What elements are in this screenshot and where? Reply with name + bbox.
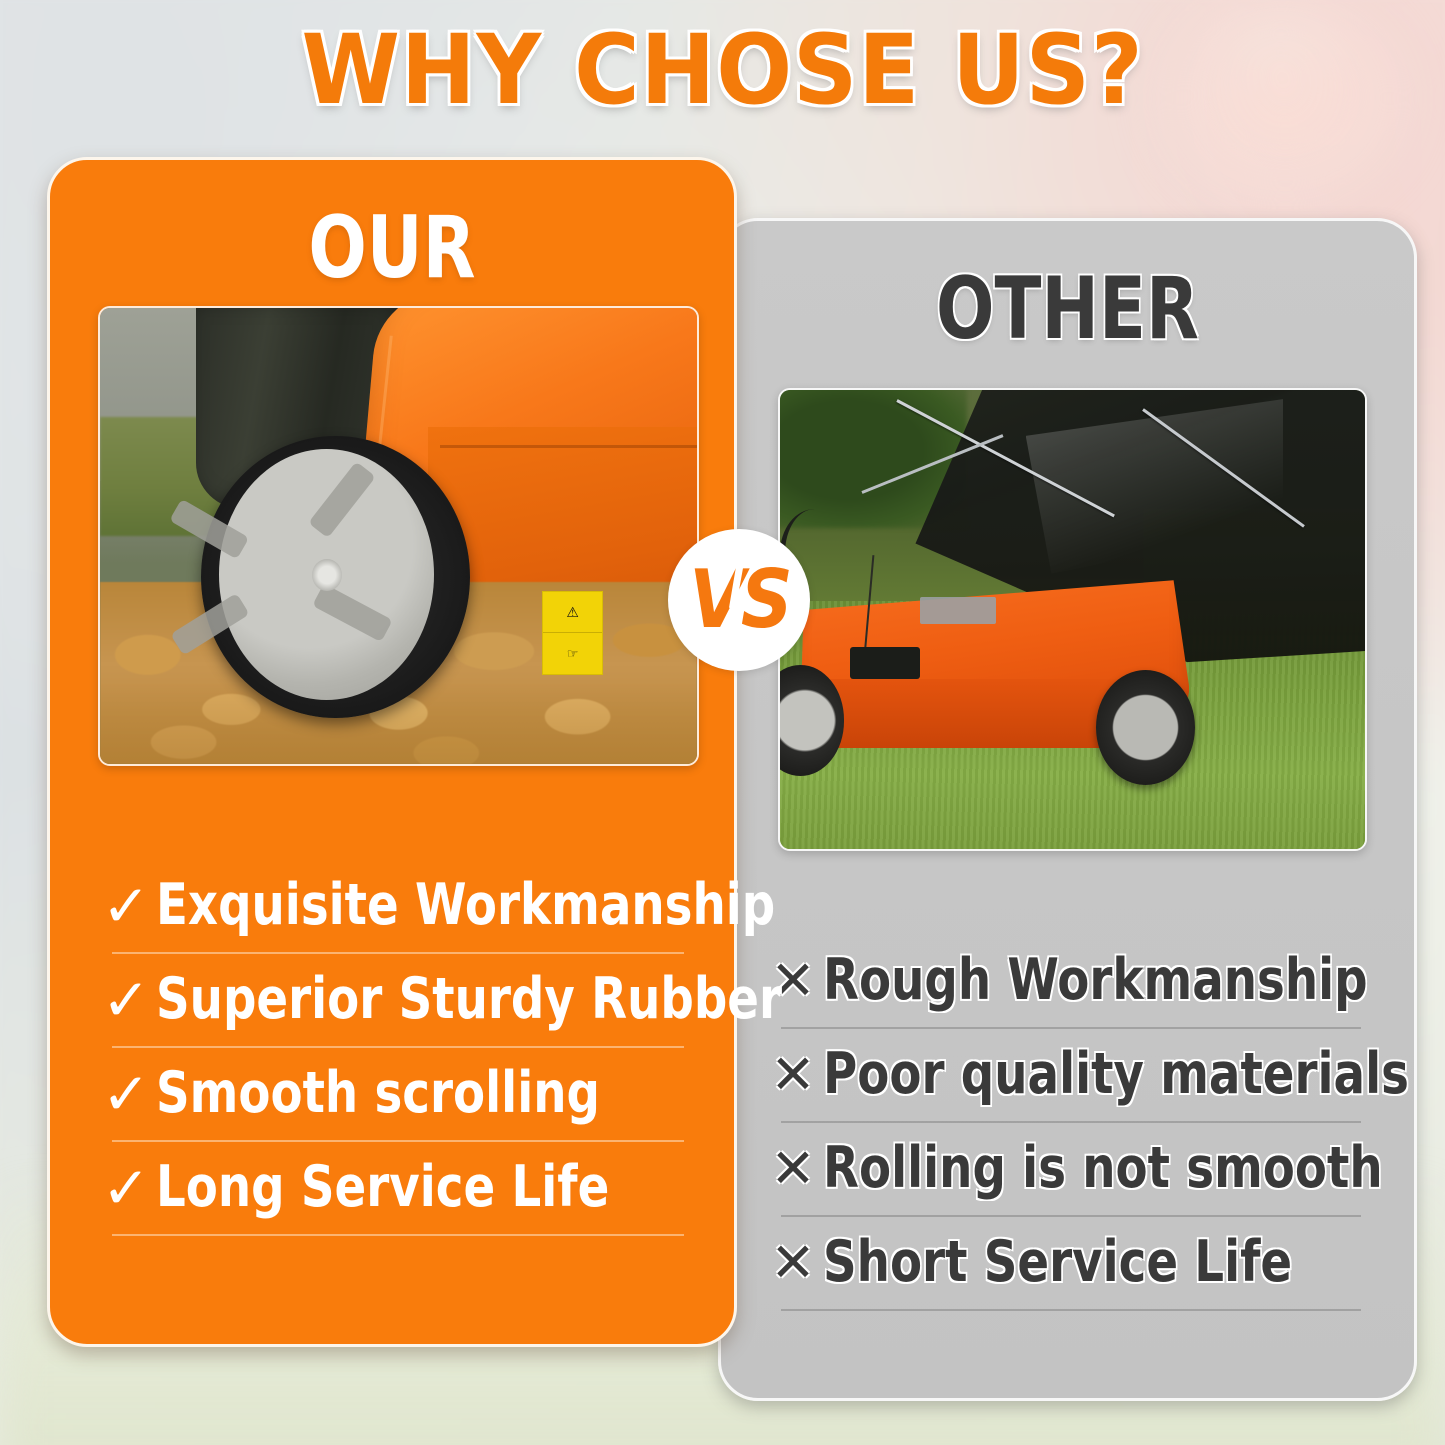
list-item-label: Rolling is not smooth bbox=[823, 1139, 1383, 1198]
list-item: ✓ Exquisite Workmanship bbox=[96, 860, 696, 952]
list-item: ✕ Rough Workmanship bbox=[763, 935, 1377, 1027]
check-icon: ✓ bbox=[96, 1065, 156, 1123]
our-card-heading: OUR bbox=[118, 205, 665, 291]
other-feature-list: ✕ Rough Workmanship ✕ Poor quality mater… bbox=[763, 935, 1377, 1311]
list-item: ✓ Long Service Life bbox=[96, 1142, 696, 1234]
other-product-photo bbox=[778, 388, 1367, 851]
list-item: ✓ Superior Sturdy Rubber bbox=[96, 954, 696, 1046]
check-icon: ✓ bbox=[96, 1159, 156, 1217]
cross-icon: ✕ bbox=[763, 1236, 823, 1290]
check-icon: ✓ bbox=[96, 971, 156, 1029]
other-comparison-card: OTHER ✕ Rough Workmanship ✕ Poor quality… bbox=[718, 218, 1417, 1401]
photo-name-plate bbox=[920, 597, 996, 625]
list-item: ✓ Smooth scrolling bbox=[96, 1048, 696, 1140]
photo-hub-cap bbox=[312, 559, 342, 591]
list-divider bbox=[112, 1234, 684, 1236]
other-card-heading: OTHER bbox=[790, 266, 1344, 352]
versus-badge: VS bbox=[668, 529, 810, 671]
warning-triangle-icon: ⚠ bbox=[543, 592, 603, 634]
list-item-label: Poor quality materials bbox=[823, 1045, 1409, 1104]
list-item-label: Long Service Life bbox=[156, 1158, 609, 1217]
list-item-label: Rough Workmanship bbox=[823, 951, 1368, 1010]
our-feature-list: ✓ Exquisite Workmanship ✓ Superior Sturd… bbox=[96, 860, 696, 1236]
photo-hitch bbox=[850, 647, 920, 679]
cross-icon: ✕ bbox=[763, 1142, 823, 1196]
our-comparison-card: OUR ⚠ ☞ ✓ Exquisite Workmanship ✓ Supe bbox=[47, 157, 737, 1347]
cross-icon: ✕ bbox=[763, 1048, 823, 1102]
photo-wheel-right bbox=[1096, 670, 1195, 785]
page-title: WHY CHOSE US? bbox=[51, 22, 1395, 118]
check-icon: ✓ bbox=[96, 877, 156, 935]
list-item-label: Short Service Life bbox=[823, 1233, 1292, 1292]
our-product-photo: ⚠ ☞ bbox=[98, 306, 699, 766]
list-item-label: Smooth scrolling bbox=[156, 1064, 600, 1123]
list-item-label: Exquisite Workmanship bbox=[156, 876, 775, 935]
list-item: ✕ Rolling is not smooth bbox=[763, 1123, 1377, 1215]
photo-warning-label: ⚠ ☞ bbox=[542, 591, 604, 675]
list-divider bbox=[781, 1309, 1361, 1311]
list-item-label: Superior Sturdy Rubber bbox=[156, 970, 782, 1029]
photo-body-seam bbox=[440, 445, 699, 448]
list-item: ✕ Short Service Life bbox=[763, 1217, 1377, 1309]
list-item: ✕ Poor quality materials bbox=[763, 1029, 1377, 1121]
hazard-hand-icon: ☞ bbox=[543, 633, 603, 674]
